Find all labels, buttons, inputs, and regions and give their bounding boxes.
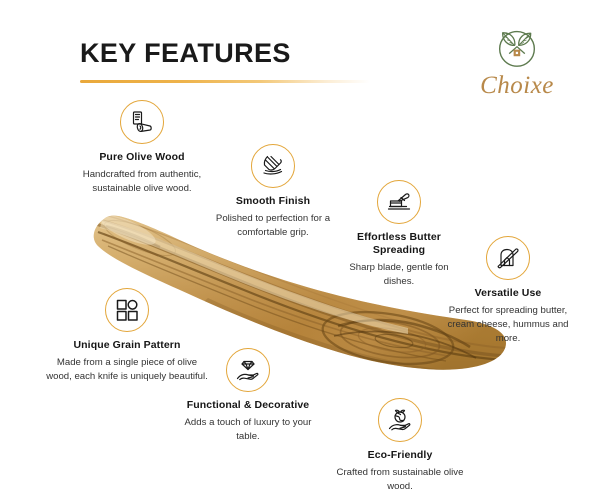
feature-title: Functional & Decorative xyxy=(176,399,320,412)
feature-versatile-use: Versatile Use Perfect for spreading butt… xyxy=(438,236,578,346)
brand-logo: Choixe xyxy=(462,22,572,100)
butter-knife-spreading-icon xyxy=(377,180,421,224)
feature-description: Perfect for spreading butter, cream chee… xyxy=(438,304,578,346)
title-underline-rule xyxy=(80,80,370,83)
bread-slice-knife-icon xyxy=(486,236,530,280)
feature-title: Eco-Friendly xyxy=(326,449,474,462)
feature-title: Pure Olive Wood xyxy=(78,151,206,164)
feature-pure-olive-wood: Pure Olive Wood Handcrafted from authent… xyxy=(78,100,206,196)
feature-description: Adds a touch of luxury to your table. xyxy=(176,416,320,444)
polishing-hand-icon xyxy=(251,144,295,188)
brand-wordmark: Choixe xyxy=(462,72,572,100)
feature-smooth-finish: Smooth Finish Polished to perfection for… xyxy=(214,144,332,240)
feature-description: Crafted from sustainable olive wood. xyxy=(326,466,474,494)
feature-title: Versatile Use xyxy=(438,287,578,300)
hand-globe-leaf-icon xyxy=(378,398,422,442)
leaf-circle-icon xyxy=(491,22,543,74)
infographic-page: KEY FEATURES Choixe xyxy=(0,0,600,499)
feature-description: Polished to perfection for a comfortable… xyxy=(214,212,332,240)
grain-pattern-squares-icon xyxy=(105,288,149,332)
feature-description: Handcrafted from authentic, sustainable … xyxy=(78,168,206,196)
hand-diamond-icon xyxy=(226,348,270,392)
wood-log-axe-icon xyxy=(120,100,164,144)
page-title: KEY FEATURES xyxy=(80,38,291,69)
feature-functional-decorative: Functional & Decorative Adds a touch of … xyxy=(176,348,320,444)
feature-title: Smooth Finish xyxy=(214,195,332,208)
feature-eco-friendly: Eco-Friendly Crafted from sustainable ol… xyxy=(326,398,474,494)
